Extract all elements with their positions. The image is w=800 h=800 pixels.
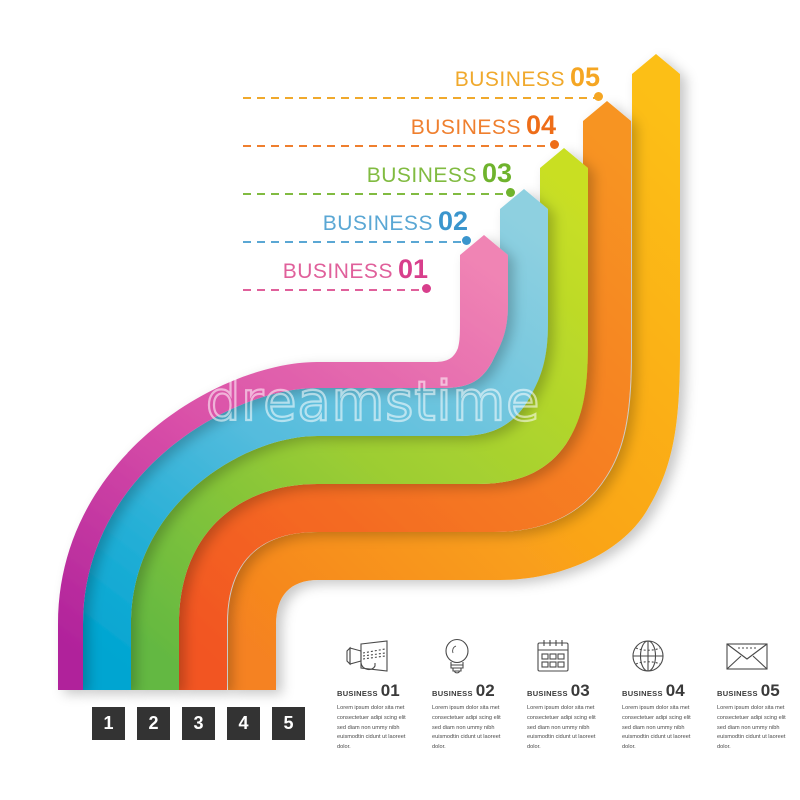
info-number-03: 03 <box>571 681 590 700</box>
info-column-03[interactable]: BUSINESS03 Lorem ipsum dolor sita met co… <box>527 636 607 753</box>
step-chip-3[interactable]: 3 <box>182 707 215 740</box>
info-column-01[interactable]: BUSINESS01 Lorem ipsum dolor sita met co… <box>337 636 417 753</box>
info-title-02: BUSINESS02 <box>432 681 512 701</box>
lightbulb-icon <box>432 636 512 676</box>
info-body-05: Lorem ipsum dolor sita met consectetuer … <box>717 704 793 753</box>
info-word-05: BUSINESS <box>717 689 758 698</box>
info-title-03: BUSINESS03 <box>527 681 607 701</box>
calendar-icon <box>527 636 607 676</box>
info-body-04: Lorem ipsum dolor sita met consectetuer … <box>622 704 698 753</box>
info-word-01: BUSINESS <box>337 689 378 698</box>
info-number-01: 01 <box>381 681 400 700</box>
info-word-03: BUSINESS <box>527 689 568 698</box>
step-chip-2[interactable]: 2 <box>137 707 170 740</box>
info-body-02: Lorem ipsum dolor sita met consectetuer … <box>432 704 508 753</box>
info-word-04: BUSINESS <box>622 689 663 698</box>
infographic-canvas: dreamstime BUSINESS05 BUSINESS04 BUSINES… <box>0 0 800 800</box>
step-chip-4[interactable]: 4 <box>227 707 260 740</box>
info-column-04[interactable]: BUSINESS04 Lorem ipsum dolor sita met co… <box>622 636 702 753</box>
step-chip-1[interactable]: 1 <box>92 707 125 740</box>
info-title-01: BUSINESS01 <box>337 681 417 701</box>
info-number-05: 05 <box>761 681 780 700</box>
info-body-03: Lorem ipsum dolor sita met consectetuer … <box>527 704 603 753</box>
step-chip-5[interactable]: 5 <box>272 707 305 740</box>
info-number-02: 02 <box>476 681 495 700</box>
info-column-02[interactable]: BUSINESS02 Lorem ipsum dolor sita met co… <box>432 636 512 753</box>
megaphone-icon <box>337 636 417 676</box>
globe-icon <box>622 636 702 676</box>
info-number-04: 04 <box>666 681 685 700</box>
envelope-icon <box>717 636 797 676</box>
info-word-02: BUSINESS <box>432 689 473 698</box>
info-columns: BUSINESS01 Lorem ipsum dolor sita met co… <box>337 636 797 753</box>
info-column-05[interactable]: BUSINESS05 Lorem ipsum dolor sita met co… <box>717 636 797 753</box>
step-chips: 1 2 3 4 5 <box>92 707 305 740</box>
info-body-01: Lorem ipsum dolor sita met consectetuer … <box>337 704 413 753</box>
info-title-04: BUSINESS04 <box>622 681 702 701</box>
info-title-05: BUSINESS05 <box>717 681 797 701</box>
